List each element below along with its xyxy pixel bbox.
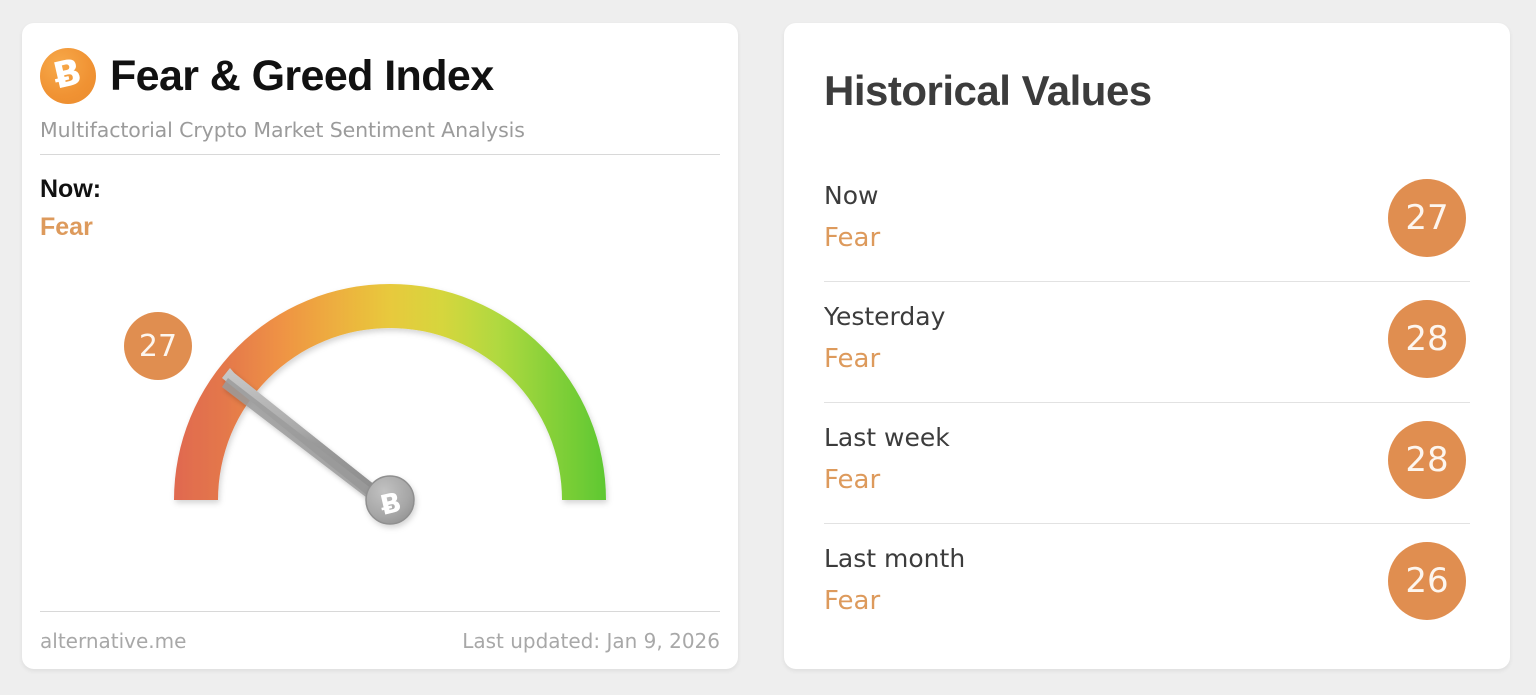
history-classification: Fear xyxy=(824,223,880,253)
history-value-badge: 28 xyxy=(1388,300,1466,378)
history-period-label: Last month xyxy=(824,544,965,573)
page-title: Fear & Greed Index xyxy=(110,52,494,101)
page-root: Ƀ Fear & Greed Index Multifactorial Cryp… xyxy=(0,0,1536,695)
history-classification: Fear xyxy=(824,344,880,374)
source-link[interactable]: alternative.me xyxy=(40,629,186,653)
footer-divider xyxy=(40,611,720,612)
bitcoin-icon: Ƀ xyxy=(40,48,96,104)
list-item: Yesterday Fear 28 xyxy=(824,282,1470,403)
now-classification: Fear xyxy=(40,213,93,242)
last-updated-text: Last updated: Jan 9, 2026 xyxy=(462,629,720,653)
history-classification: Fear xyxy=(824,586,880,616)
header-divider xyxy=(40,154,720,155)
history-period-label: Yesterday xyxy=(824,302,945,331)
list-item: Last month Fear 26 xyxy=(824,524,1470,645)
history-value-text: 27 xyxy=(1405,198,1448,238)
historical-values-card: Historical Values Now Fear 27 Yesterday … xyxy=(784,23,1510,669)
now-label: Now: xyxy=(40,175,101,204)
history-value-text: 26 xyxy=(1405,561,1448,601)
needle-hub-bitcoin-icon: Ƀ xyxy=(366,476,414,524)
gauge-chart: Ƀ 27 xyxy=(22,248,738,598)
card-header: Ƀ Fear & Greed Index xyxy=(40,48,494,104)
gauge-value-text: 27 xyxy=(139,329,177,364)
bitcoin-glyph: Ƀ xyxy=(51,54,86,95)
historical-values-title: Historical Values xyxy=(824,67,1152,115)
history-value-text: 28 xyxy=(1405,319,1448,359)
history-period-label: Last week xyxy=(824,423,950,452)
history-period-label: Now xyxy=(824,181,878,210)
history-value-badge: 27 xyxy=(1388,179,1466,257)
history-classification: Fear xyxy=(824,465,880,495)
gauge-value-badge: 27 xyxy=(124,312,192,380)
history-value-text: 28 xyxy=(1405,440,1448,480)
fear-greed-gauge-card: Ƀ Fear & Greed Index Multifactorial Cryp… xyxy=(22,23,738,669)
historical-values-list: Now Fear 27 Yesterday Fear 28 Last week … xyxy=(824,161,1470,645)
gauge-svg: Ƀ xyxy=(22,248,738,598)
list-item: Last week Fear 28 xyxy=(824,403,1470,524)
history-value-badge: 28 xyxy=(1388,421,1466,499)
history-value-badge: 26 xyxy=(1388,542,1466,620)
card-footer: alternative.me Last updated: Jan 9, 2026 xyxy=(40,629,720,653)
list-item: Now Fear 27 xyxy=(824,161,1470,282)
page-subtitle: Multifactorial Crypto Market Sentiment A… xyxy=(40,118,525,142)
